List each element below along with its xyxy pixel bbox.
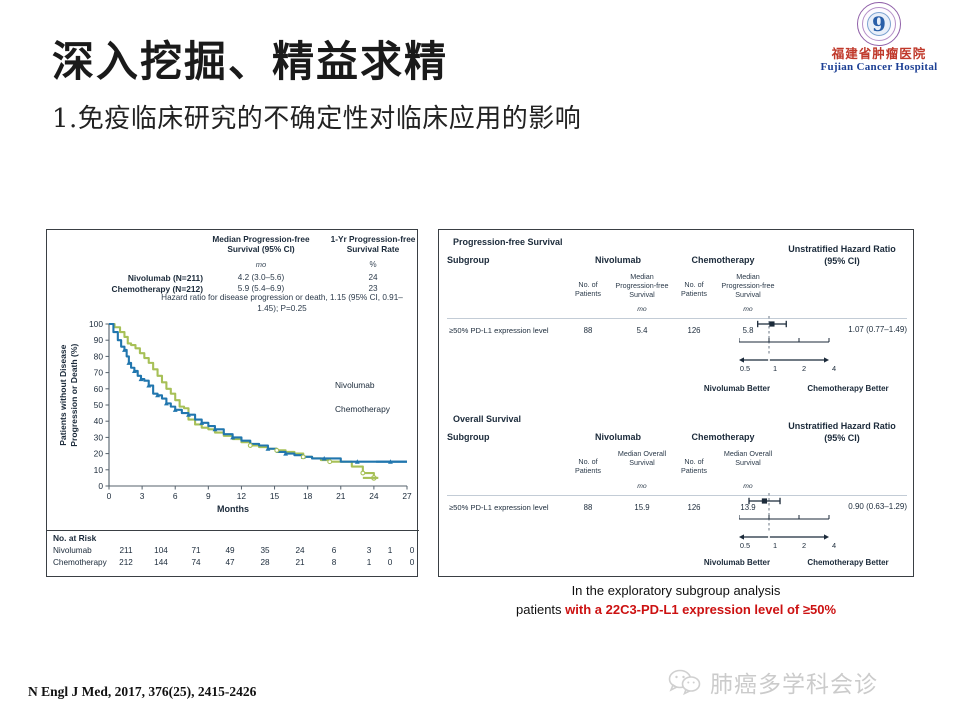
caption-line-1: In the exploratory subgroup analysis — [438, 582, 914, 601]
forest-subheader-median-nivolumab: Median Progression-free Survival — [615, 272, 669, 299]
forest-cell-median-nivolumab: 5.4 — [615, 326, 669, 335]
svg-text:18: 18 — [303, 491, 313, 501]
km-unit-mo: mo — [207, 260, 315, 269]
svg-text:0: 0 — [107, 491, 112, 501]
forest-unit-a: mo — [615, 483, 669, 490]
forest-axis-tick-0: 0.5 — [735, 364, 755, 373]
km-legend-chemotherapy: Chemotherapy — [335, 404, 390, 414]
km-figure-panel: Median Progression-free Survival (95% CI… — [46, 229, 418, 577]
forest-subheader-n-nivolumab: No. of Patients — [565, 457, 611, 475]
hospital-name-en: Fujian Cancer Hospital — [804, 61, 954, 74]
svg-text:20: 20 — [94, 449, 104, 459]
forest-cell-n-nivolumab: 88 — [565, 326, 611, 335]
forest-unit-b: mo — [721, 306, 775, 313]
wechat-account-name: 肺癌多学科会诊 — [710, 665, 878, 699]
svg-text:6: 6 — [173, 491, 178, 501]
page-title: 深入挖掘、精益求精 — [52, 28, 448, 89]
forest-group-header-chemotherapy: Chemotherapy — [677, 432, 769, 442]
forest-axis-tick-3: 4 — [824, 541, 844, 550]
km-row-median-chemotherapy: 5.9 (5.4–6.9) — [207, 284, 315, 293]
risk-value: 0 — [399, 558, 425, 567]
forest-section-title: Progression-free Survival — [453, 237, 563, 247]
risk-value: 24 — [287, 546, 313, 555]
forest-section-pfs: Progression-free Survival Subgroup Nivol… — [439, 230, 915, 404]
forest-cell-n-chemotherapy: 126 — [671, 503, 717, 512]
forest-group-header-nivolumab: Nivolumab — [572, 432, 664, 442]
wechat-icon — [668, 668, 702, 696]
risk-value: 6 — [321, 546, 347, 555]
svg-text:100: 100 — [89, 319, 103, 329]
forest-group-header-nivolumab: Nivolumab — [572, 255, 664, 265]
svg-text:10: 10 — [94, 465, 104, 475]
forest-axis-tick-1: 1 — [765, 364, 785, 373]
km-col-header-median: Median Progression-free Survival (95% CI… — [207, 234, 315, 255]
risk-value: 211 — [113, 546, 139, 555]
risk-row-name: Nivolumab — [53, 546, 115, 555]
forest-subheader-median-chemotherapy: Median Progression-free Survival — [721, 272, 775, 299]
risk-value: 0 — [399, 546, 425, 555]
risk-value: 104 — [148, 546, 174, 555]
km-unit-pct: % — [329, 260, 417, 269]
risk-row-name: Chemotherapy — [53, 558, 115, 567]
forest-row-label: ≥50% PD-L1 expression level — [449, 326, 569, 336]
svg-text:21: 21 — [336, 491, 346, 501]
risk-value: 144 — [148, 558, 174, 567]
forest-subheader-median-nivolumab: Median Overall Survival — [615, 449, 669, 467]
forest-cell-n-chemotherapy: 126 — [671, 326, 717, 335]
forest-left-better-label: Nivolumab Better — [687, 558, 787, 567]
forest-unit-b: mo — [721, 483, 775, 490]
caption-emphasis-text: with a 22C3-PD-L1 expression level of ≥5… — [565, 602, 836, 617]
svg-text:0: 0 — [98, 481, 103, 491]
svg-text:50: 50 — [94, 400, 104, 410]
risk-value: 74 — [183, 558, 209, 567]
forest-section-os: Overall Survival Subgroup Nivolumab Chem… — [439, 410, 915, 576]
forest-axis-tick-3: 4 — [824, 364, 844, 373]
svg-text:60: 60 — [94, 384, 104, 394]
forest-right-better-label: Chemotherapy Better — [789, 384, 907, 393]
km-plot-area: Patients without Disease Progression or … — [47, 314, 419, 522]
svg-text:3: 3 — [140, 491, 145, 501]
forest-section-title: Overall Survival — [453, 414, 521, 424]
km-risk-table: No. at Risk Nivolumab 211104714935246310… — [47, 530, 419, 576]
forest-axis-tick-2: 2 — [794, 364, 814, 373]
svg-text:9: 9 — [206, 491, 211, 501]
risk-value: 8 — [321, 558, 347, 567]
svg-text:40: 40 — [94, 416, 104, 426]
table-row: Nivolumab 211104714935246310 — [53, 546, 419, 558]
km-col-header-rate: 1-Yr Progression-free Survival Rate — [329, 234, 417, 255]
risk-value: 28 — [252, 558, 278, 567]
forest-axis-tick-1: 1 — [765, 541, 785, 550]
km-row-rate-nivolumab: 24 — [329, 273, 417, 282]
caption-plain-text: patients — [516, 602, 565, 617]
table-row: Chemotherapy 212144744728218100 — [53, 558, 419, 570]
svg-text:90: 90 — [94, 335, 104, 345]
svg-text:15: 15 — [270, 491, 280, 501]
risk-value: 71 — [183, 546, 209, 555]
forest-cell-n-nivolumab: 88 — [565, 503, 611, 512]
svg-text:70: 70 — [94, 368, 104, 378]
hospital-logo: 9 福建省肿瘤医院 Fujian Cancer Hospital — [804, 2, 954, 84]
svg-text:80: 80 — [94, 351, 104, 361]
citation-text: N Engl J Med, 2017, 376(25), 2415-2426 — [28, 684, 256, 700]
km-legend-nivolumab: Nivolumab — [335, 380, 375, 390]
svg-text:30: 30 — [94, 432, 104, 442]
forest-left-better-label: Nivolumab Better — [687, 384, 787, 393]
svg-text:12: 12 — [237, 491, 247, 501]
forest-hr-header: Unstratified Hazard Ratio (95% CI) — [777, 421, 907, 444]
km-row-median-nivolumab: 4.2 (3.0–5.6) — [207, 273, 315, 282]
risk-value: 21 — [287, 558, 313, 567]
forest-cell-median-nivolumab: 15.9 — [615, 503, 669, 512]
forest-subheader-median-chemotherapy: Median Overall Survival — [721, 449, 775, 467]
km-row-rate-chemotherapy: 23 — [329, 284, 417, 293]
km-y-axis-label: Patients without Disease Progression or … — [58, 320, 80, 470]
forest-subheader-n-chemotherapy: No. of Patients — [671, 280, 717, 298]
forest-unit-a: mo — [615, 306, 669, 313]
km-hazard-ratio-note: Hazard ratio for disease progression or … — [157, 293, 407, 314]
risk-value: 47 — [217, 558, 243, 567]
forest-row-label: ≥50% PD-L1 expression level — [449, 503, 569, 513]
risk-value: 35 — [252, 546, 278, 555]
svg-text:27: 27 — [402, 491, 412, 501]
forest-right-better-label: Chemotherapy Better — [789, 558, 907, 567]
forest-figure-panel: Progression-free Survival Subgroup Nivol… — [438, 229, 914, 577]
forest-group-header-chemotherapy: Chemotherapy — [677, 255, 769, 265]
page-subtitle: 1.免疫临床研究的不确定性对临床应用的影响 — [52, 98, 581, 135]
forest-subgroup-header: Subgroup — [447, 432, 490, 442]
hospital-seal-icon: 9 — [857, 2, 901, 46]
km-x-axis-label: Months — [47, 504, 419, 514]
caption-line-2: patients with a 22C3-PD-L1 expression le… — [438, 601, 914, 620]
forest-subgroup-header: Subgroup — [447, 255, 490, 265]
risk-value: 212 — [113, 558, 139, 567]
hospital-name-cn: 福建省肿瘤医院 — [804, 47, 954, 61]
forest-subheader-n-nivolumab: No. of Patients — [565, 280, 611, 298]
logo-glyph: 9 — [857, 2, 901, 46]
svg-text:24: 24 — [369, 491, 379, 501]
risk-value: 49 — [217, 546, 243, 555]
risk-table-title: No. at Risk — [53, 533, 96, 543]
forest-axis-tick-0: 0.5 — [735, 541, 755, 550]
km-row-label-nivolumab: Nivolumab (N=211) — [53, 273, 203, 283]
figure-caption: In the exploratory subgroup analysis pat… — [438, 582, 914, 620]
forest-hr-header: Unstratified Hazard Ratio (95% CI) — [777, 244, 907, 267]
wechat-watermark: 肺癌多学科会诊 — [668, 662, 948, 702]
forest-axis-tick-2: 2 — [794, 541, 814, 550]
forest-subheader-n-chemotherapy: No. of Patients — [671, 457, 717, 475]
